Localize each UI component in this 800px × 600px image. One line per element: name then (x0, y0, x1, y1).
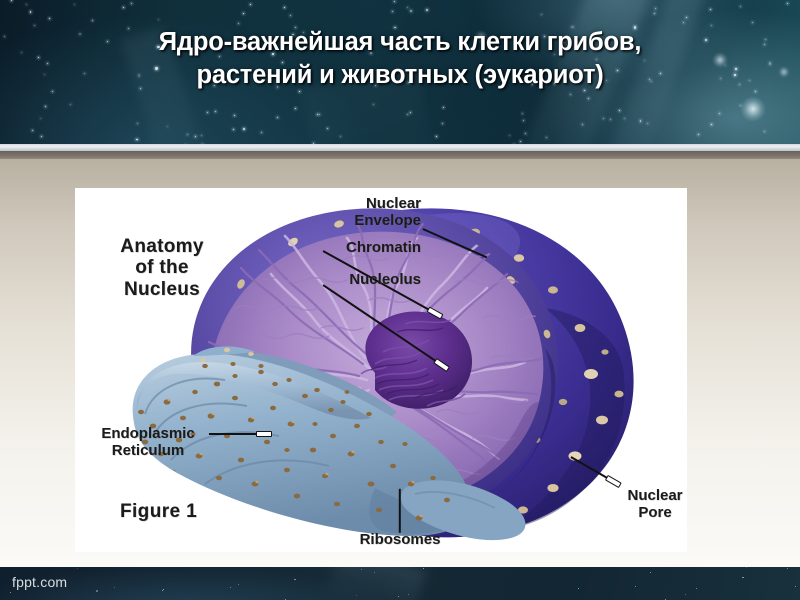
label-nuclear-envelope: Nuclear Envelope (313, 196, 421, 230)
star (290, 15, 291, 16)
figure-caption: Figure 1 (120, 501, 250, 522)
star (277, 117, 278, 118)
label-chromatin: Chromatin (273, 240, 421, 257)
star (285, 599, 286, 600)
star (32, 130, 33, 131)
star (319, 114, 320, 115)
star (764, 44, 766, 46)
star (238, 584, 240, 586)
star (588, 98, 589, 99)
star (123, 7, 124, 8)
star (546, 137, 547, 138)
star (742, 577, 744, 579)
star (570, 94, 571, 95)
star (30, 11, 32, 13)
star (764, 131, 765, 132)
star (787, 3, 788, 4)
star (230, 587, 231, 588)
star (136, 139, 138, 141)
star (74, 4, 75, 5)
star (443, 107, 444, 108)
label-ribosomes: Ribosomes (330, 532, 470, 549)
page-title: Ядро-важнейшая часть клетки грибов, раст… (40, 26, 760, 92)
star (525, 133, 526, 134)
leader-tip (256, 431, 272, 437)
star (711, 124, 713, 126)
star (655, 8, 656, 9)
star (4, 36, 5, 37)
star (710, 9, 711, 10)
star (70, 104, 71, 105)
light-streak (323, 567, 427, 600)
star (795, 586, 796, 587)
star (92, 20, 93, 21)
star (163, 589, 164, 590)
figure-heading: Anatomy of the Nucleus (87, 236, 237, 300)
star (410, 112, 411, 113)
star (769, 62, 771, 64)
star (40, 118, 41, 119)
star (317, 114, 318, 115)
slide-footer-background (0, 567, 800, 600)
star (294, 579, 296, 581)
star (284, 7, 285, 8)
star (392, 11, 393, 12)
header-divider-light (0, 144, 800, 151)
star (686, 17, 687, 18)
star (26, 4, 27, 5)
star (426, 9, 428, 11)
star (752, 22, 753, 23)
star (114, 587, 115, 588)
star (96, 590, 98, 592)
star (624, 118, 625, 119)
star (398, 596, 399, 597)
star (261, 132, 262, 133)
star (407, 7, 408, 8)
star (408, 594, 409, 595)
star (41, 136, 42, 137)
star (167, 126, 168, 127)
star (509, 135, 510, 136)
star (407, 114, 408, 115)
star (523, 120, 524, 121)
star (787, 568, 788, 569)
label-nuclear-pore: Nuclear Pore (615, 488, 687, 522)
star (238, 23, 239, 24)
star (38, 57, 39, 58)
star (647, 123, 648, 124)
star (436, 136, 437, 137)
star (131, 3, 132, 4)
star (394, 1, 395, 2)
star (234, 115, 235, 116)
star (696, 588, 697, 589)
star (187, 134, 188, 135)
star (719, 113, 720, 114)
star (340, 136, 341, 137)
star (635, 586, 636, 587)
label-endoplasmic-reticulum: Endoplasmic Reticulum (81, 426, 215, 460)
star (327, 128, 328, 129)
star (195, 136, 196, 137)
star (746, 567, 747, 568)
slide: Ядро-важнейшая часть клетки грибов, раст… (0, 0, 800, 600)
star (21, 52, 22, 53)
star (740, 6, 741, 7)
star (442, 123, 443, 124)
star (765, 39, 766, 40)
header-divider-dark (0, 151, 800, 159)
star (619, 110, 620, 111)
star (158, 19, 159, 20)
star (683, 22, 684, 23)
star (77, 568, 78, 569)
star (10, 592, 11, 593)
star (243, 13, 244, 14)
star (49, 18, 51, 20)
star (11, 0, 12, 1)
star (215, 111, 216, 112)
star (522, 113, 523, 114)
label-nucleolus: Nucleolus (273, 272, 421, 289)
star (201, 135, 202, 136)
star (603, 118, 604, 119)
star (685, 594, 686, 595)
nucleus-figure-panel: Anatomy of the Nucleus Nuclear Envelope … (75, 188, 687, 552)
star (45, 106, 46, 107)
star (374, 572, 375, 573)
leader-line-ribosomes (399, 489, 401, 533)
star-glow (740, 96, 766, 122)
star (295, 108, 296, 109)
star (520, 141, 521, 142)
star (243, 128, 245, 130)
star (654, 13, 655, 14)
star (162, 590, 163, 591)
star (137, 123, 138, 124)
star (250, 4, 251, 5)
star (582, 124, 583, 125)
star (34, 25, 35, 26)
star-glow (778, 66, 790, 78)
watermark-fppt: fppt.com (12, 574, 67, 590)
star (410, 10, 412, 12)
star (698, 134, 699, 135)
star (650, 572, 651, 573)
star (233, 129, 234, 130)
star (640, 120, 642, 122)
star (373, 104, 374, 105)
star (541, 14, 542, 15)
star (578, 588, 579, 589)
leader-line-endoplasmic-reticulum (209, 433, 271, 435)
star (610, 119, 611, 120)
star (207, 112, 208, 113)
